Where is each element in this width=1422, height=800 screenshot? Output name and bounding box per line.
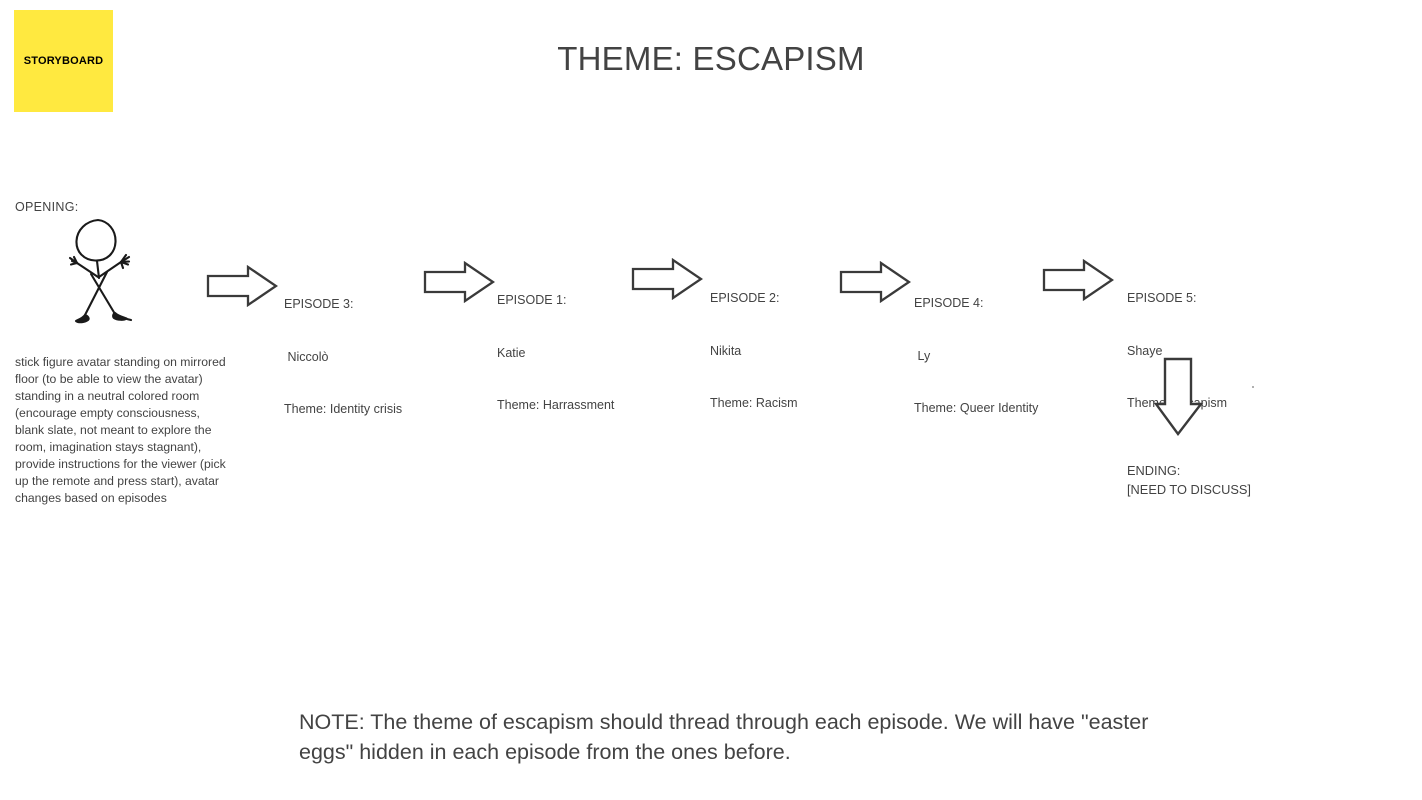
opening-description: stick figure avatar standing on mirrored…	[15, 354, 227, 507]
episode-character: Nikita	[710, 343, 798, 361]
episode-heading: EPISODE 5:	[1127, 290, 1227, 308]
episode-theme: Theme: Queer Identity	[914, 400, 1038, 418]
episode-heading: EPISODE 4:	[914, 295, 1038, 313]
episode-block: EPISODE 4: Ly Theme: Queer Identity	[914, 260, 1038, 435]
episode-character: Niccolò	[284, 349, 402, 367]
arrow-right-icon	[206, 265, 278, 307]
episode-heading: EPISODE 2:	[710, 290, 798, 308]
episode-block: EPISODE 1: Katie Theme: Harrassment	[497, 257, 614, 432]
episode-character: Ly	[914, 348, 1038, 366]
stray-dot-mark	[1252, 386, 1254, 388]
episode-theme: Theme: Harrassment	[497, 397, 614, 415]
ending-block: ENDING: [NEED TO DISCUSS]	[1127, 461, 1251, 499]
episode-theme: Theme: Racism	[710, 395, 798, 413]
arrow-down-icon	[1154, 357, 1204, 437]
ending-value: [NEED TO DISCUSS]	[1127, 480, 1251, 499]
episode-block: EPISODE 2: Nikita Theme: Racism	[710, 255, 798, 430]
ending-label: ENDING:	[1127, 461, 1251, 480]
stick-figure-icon	[58, 216, 150, 334]
episode-theme: Theme: Identity crisis	[284, 401, 402, 419]
episode-block: EPISODE 3: Niccolò Theme: Identity crisi…	[284, 261, 402, 436]
arrow-right-icon	[423, 261, 495, 303]
opening-label: OPENING:	[15, 200, 79, 214]
arrow-right-icon	[839, 261, 911, 303]
note-text: NOTE: The theme of escapism should threa…	[299, 708, 1189, 767]
episode-heading: EPISODE 1:	[497, 292, 614, 310]
page-title: THEME: ESCAPISM	[0, 40, 1422, 78]
episode-character: Katie	[497, 345, 614, 363]
arrow-right-icon	[1042, 259, 1114, 301]
arrow-right-icon	[631, 258, 703, 300]
episode-heading: EPISODE 3:	[284, 296, 402, 314]
